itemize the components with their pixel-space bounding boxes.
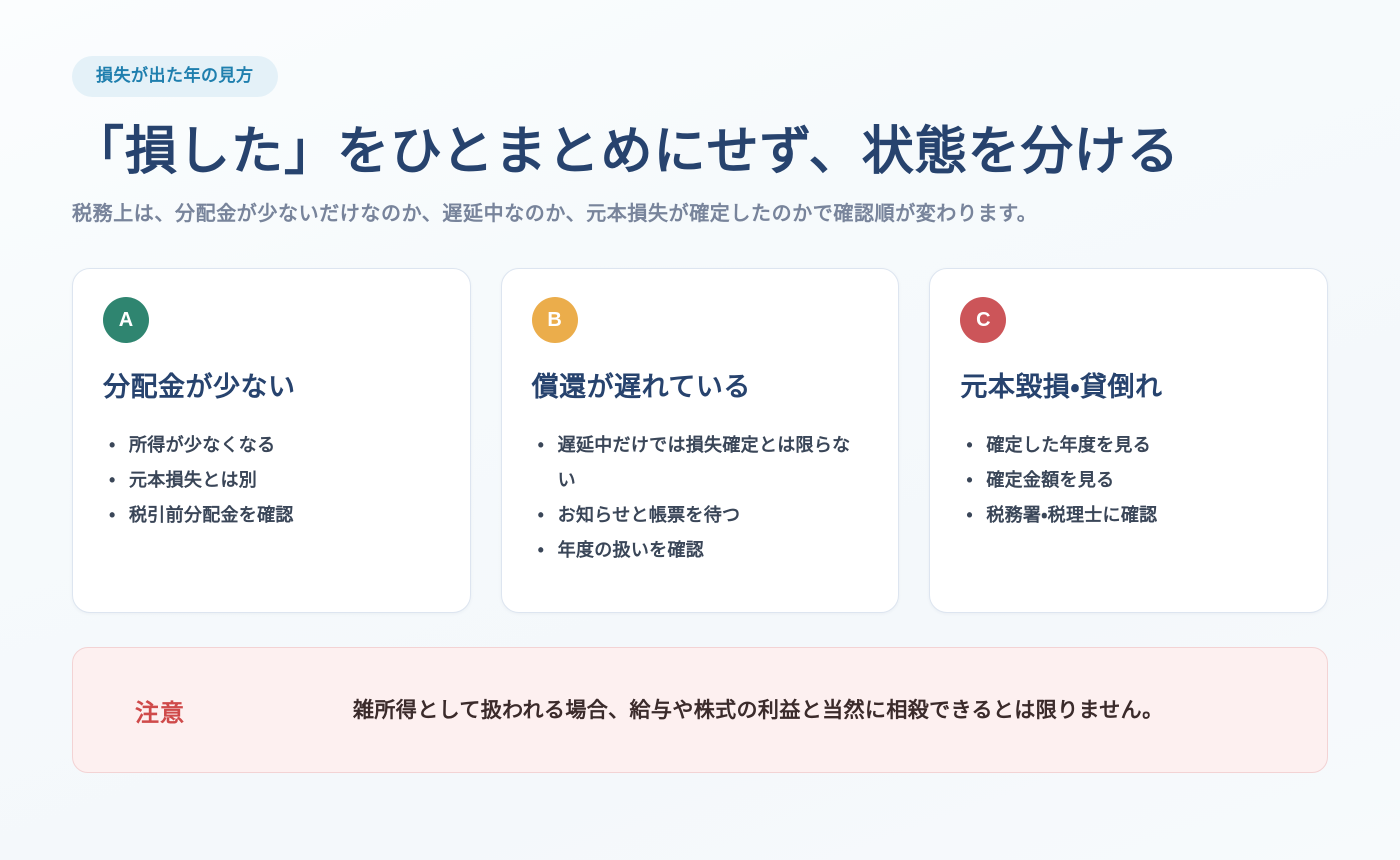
list-item: 元本損失とは別 bbox=[103, 463, 440, 498]
card-c-title: 元本毀損・貸倒れ bbox=[960, 371, 1297, 403]
card-b-list: 遅延中だけでは損失確定とは限らない お知らせと帳票を待つ 年度の扱いを確認 bbox=[532, 428, 869, 568]
list-item: お知らせと帳票を待つ bbox=[532, 498, 869, 533]
badge-letter-b: B bbox=[532, 297, 578, 343]
eyebrow-badge: 損失が出た年の見方 bbox=[72, 56, 278, 97]
page-subtitle: 税務上は、分配金が少ないだけなのか、遅延中なのか、元本損失が確定したのかで確認順… bbox=[72, 200, 1328, 228]
card-a-list: 所得が少なくなる 元本損失とは別 税引前分配金を確認 bbox=[103, 428, 440, 533]
card-c: C 元本毀損・貸倒れ 確定した年度を見る 確定金額を見る 税務署・税理士に確認 bbox=[929, 268, 1328, 613]
card-a: A 分配金が少ない 所得が少なくなる 元本損失とは別 税引前分配金を確認 bbox=[72, 268, 471, 613]
list-item: 税引前分配金を確認 bbox=[103, 498, 440, 533]
warning-callout: 注意 雑所得として扱われる場合、給与や株式の利益と当然に相殺できるとは限りません… bbox=[72, 647, 1328, 773]
eyebrow-row: 損失が出た年の見方 bbox=[72, 56, 1328, 97]
card-c-list: 確定した年度を見る 確定金額を見る 税務署・税理士に確認 bbox=[960, 428, 1297, 533]
list-item: 遅延中だけでは損失確定とは限らない bbox=[532, 428, 869, 498]
card-a-title: 分配金が少ない bbox=[103, 371, 440, 403]
card-b-title: 償還が遅れている bbox=[532, 371, 869, 403]
card-b: B 償還が遅れている 遅延中だけでは損失確定とは限らない お知らせと帳票を待つ … bbox=[501, 268, 900, 613]
list-item: 所得が少なくなる bbox=[103, 428, 440, 463]
page-title: 「損した」をひとまとめにせず、状態を分ける bbox=[72, 123, 1328, 183]
list-item: 確定金額を見る bbox=[960, 463, 1297, 498]
list-item: 確定した年度を見る bbox=[960, 428, 1297, 463]
list-item: 年度の扱いを確認 bbox=[532, 533, 869, 568]
list-item: 税務署・税理士に確認 bbox=[960, 498, 1297, 533]
badge-letter-c: C bbox=[960, 297, 1006, 343]
badge-letter-a: A bbox=[103, 297, 149, 343]
infographic-page: 損失が出た年の見方 「損した」をひとまとめにせず、状態を分ける 税務上は、分配金… bbox=[0, 0, 1400, 860]
card-grid: A 分配金が少ない 所得が少なくなる 元本損失とは別 税引前分配金を確認 B 償… bbox=[72, 268, 1328, 613]
warning-label: 注意 bbox=[107, 693, 343, 728]
warning-text: 雑所得として扱われる場合、給与や株式の利益と当然に相殺できるとは限りません。 bbox=[353, 694, 1273, 728]
